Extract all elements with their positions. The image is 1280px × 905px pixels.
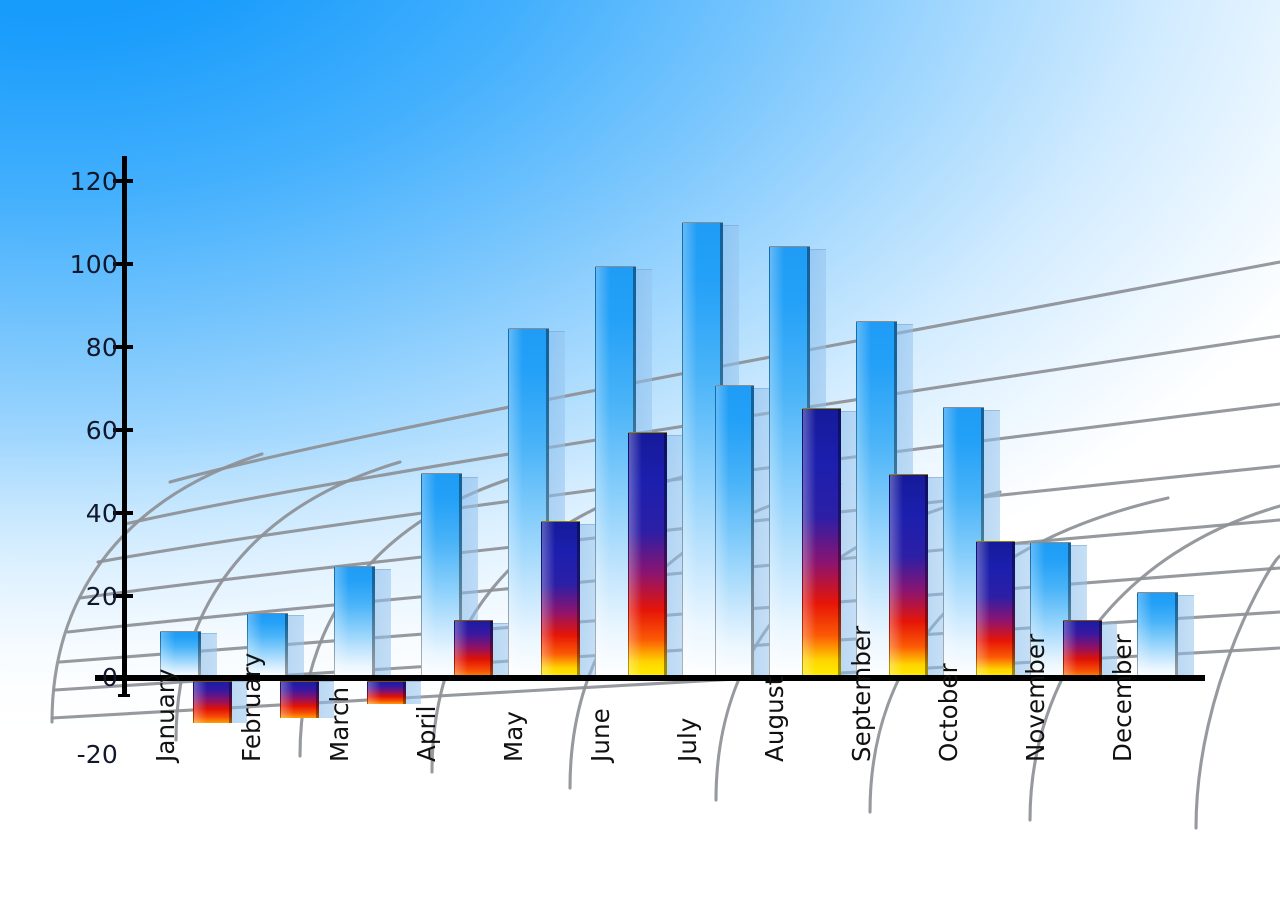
y-axis-line — [122, 156, 127, 696]
y-tick-label-120: 120 — [48, 167, 118, 196]
bar-june-series2[interactable] — [628, 432, 667, 679]
y-tick-label-40: 40 — [48, 499, 118, 528]
x-label-july: July — [673, 718, 702, 762]
bar-november-series2[interactable] — [1063, 620, 1102, 679]
x-label-february: February — [237, 653, 266, 762]
x-label-january: January — [151, 668, 180, 762]
bar-march-series1[interactable] — [334, 566, 375, 679]
x-label-october: October — [934, 663, 963, 762]
y-tick-label-60: 60 — [48, 416, 118, 445]
x-label-december: December — [1108, 634, 1137, 762]
x-label-august: August — [760, 676, 789, 762]
x-label-june: June — [586, 708, 615, 762]
x-label-april: April — [412, 706, 441, 763]
bar-march-series2[interactable] — [367, 681, 406, 704]
x-label-september: September — [847, 626, 876, 762]
bar-april-series2[interactable] — [454, 620, 493, 679]
y-tick-label-0: 0 — [48, 663, 118, 692]
x-label-may: May — [499, 711, 528, 762]
bar-december-series1[interactable] — [1137, 592, 1178, 679]
bar-july-series2[interactable] — [715, 385, 754, 679]
bar-august-series2[interactable] — [802, 408, 841, 679]
x-label-november: November — [1021, 634, 1050, 762]
y-tick-7 — [118, 694, 130, 697]
bar-october-series2[interactable] — [976, 541, 1015, 679]
bar-series-layer — [0, 0, 1280, 905]
chart-canvas: 120 100 80 60 40 20 0 -20 January Februa… — [0, 0, 1280, 905]
bar-may-series2[interactable] — [541, 521, 580, 679]
bar-february-series2[interactable] — [280, 681, 319, 718]
y-tick-label-100: 100 — [48, 250, 118, 279]
y-tick-label-minus20: -20 — [38, 740, 118, 769]
x-label-march: March — [325, 687, 354, 762]
y-tick-label-80: 80 — [48, 333, 118, 362]
y-tick-label-20: 20 — [48, 582, 118, 611]
bar-september-series2[interactable] — [889, 474, 928, 679]
bar-january-series2[interactable] — [193, 681, 232, 723]
